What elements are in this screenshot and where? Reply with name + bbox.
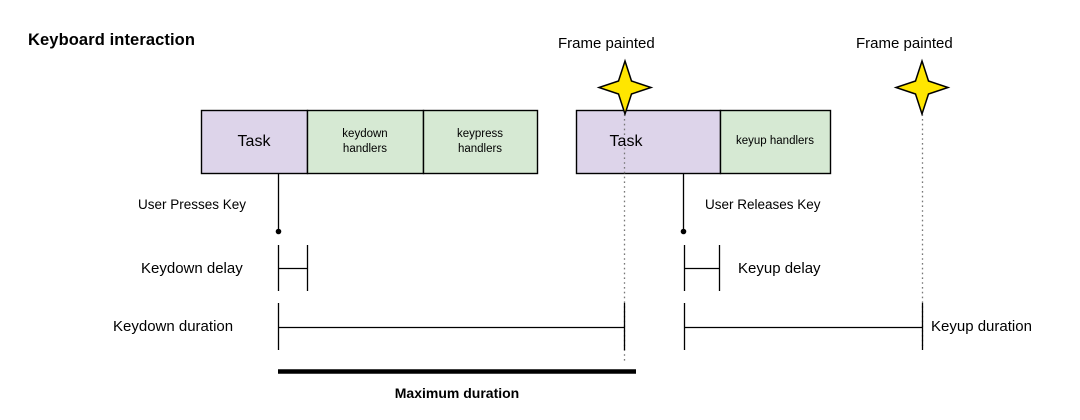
keyup-group: [577, 111, 831, 174]
user-presses-key-label: User Presses Key: [138, 197, 246, 213]
keydown-handlers-box[interactable]: [308, 111, 424, 174]
keyup-delay-bracket: [685, 245, 720, 291]
keydown-delay-bracket: [279, 245, 308, 291]
frame-painted-1-star-icon: [599, 61, 651, 114]
user-presses-key-connector: [276, 174, 282, 234]
keydown-duration-bracket: [279, 303, 625, 350]
task-box-2[interactable]: [577, 111, 721, 174]
keypress-handlers-box[interactable]: [424, 111, 538, 174]
frame-painted-2-star-icon: [896, 61, 948, 114]
user-releases-key-label: User Releases Key: [705, 197, 821, 213]
keydown-duration-label: Keydown duration: [113, 318, 233, 335]
keyup-duration-bracket: [685, 303, 923, 350]
keyup-duration-label: Keyup duration: [931, 318, 1032, 335]
keyup-handlers-box[interactable]: [721, 111, 831, 174]
keydown-delay-label: Keydown delay: [141, 260, 243, 277]
keyup-delay-label: Keyup delay: [738, 260, 821, 277]
maximum-duration-label: Maximum duration: [0, 385, 914, 401]
user-releases-key-connector: [681, 174, 687, 234]
frame-painted-1-label: Frame painted: [558, 35, 655, 52]
keydown-group: [202, 111, 538, 174]
diagram-canvas: Keyboard interaction: [0, 0, 1080, 420]
task-box-1[interactable]: [202, 111, 308, 174]
frame-painted-2-label: Frame painted: [856, 35, 953, 52]
